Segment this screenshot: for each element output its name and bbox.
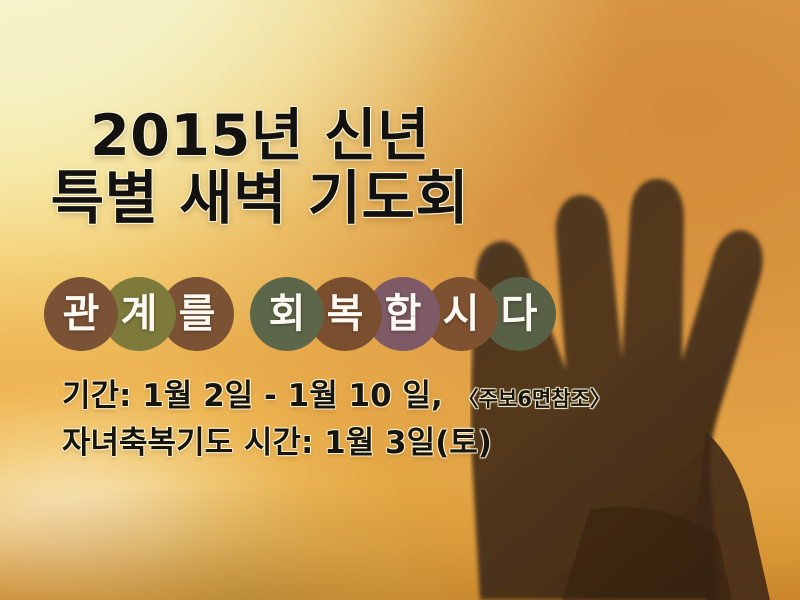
slogan-chip-label: 다: [501, 294, 538, 334]
slogan-chip-label: 복: [327, 294, 364, 334]
children-blessing-line: 자녀축복기도 시간: 1월 3일(토): [62, 425, 682, 462]
slogan-group-spacer: [234, 314, 250, 315]
slogan-chip-label: 회: [269, 294, 306, 334]
event-period-line: 기간: 1월 2일 - 1월 10 일, 〈주보6면참조〉: [62, 378, 682, 415]
slogan-chip: 회: [250, 277, 324, 351]
poster-canvas: 2015년 신년 특별 새벽 기도회 관 계 를 회 복 합: [0, 0, 800, 600]
slogan-chip: 관: [44, 277, 118, 351]
slogan-chip-label: 시: [443, 294, 480, 334]
slogan-chip-label: 관: [63, 294, 100, 334]
headline-line-2: 특별 새벽 기도회: [0, 170, 520, 227]
slogan-circle-row: 관 계 를 회 복 합 시 다: [44, 268, 556, 360]
period-label: 기간:: [62, 378, 131, 414]
page-title: 2015년 신년 특별 새벽 기도회: [0, 108, 520, 228]
slogan-chip-label: 계: [121, 294, 158, 334]
period-note: 〈주보6면참조〉: [458, 387, 611, 411]
event-info-block: 기간: 1월 2일 - 1월 10 일, 〈주보6면참조〉 자녀축복기도 시간:…: [62, 378, 682, 461]
headline-line-1: 2015년 신년: [0, 108, 520, 164]
slogan-group-1: 관 계 를: [44, 277, 234, 351]
period-value: 1월 2일 - 1월 10 일,: [142, 378, 443, 414]
slogan-chip-label: 를: [179, 294, 216, 334]
slogan-group-2: 회 복 합 시 다: [250, 277, 556, 351]
slogan-chip-label: 합: [385, 294, 422, 334]
